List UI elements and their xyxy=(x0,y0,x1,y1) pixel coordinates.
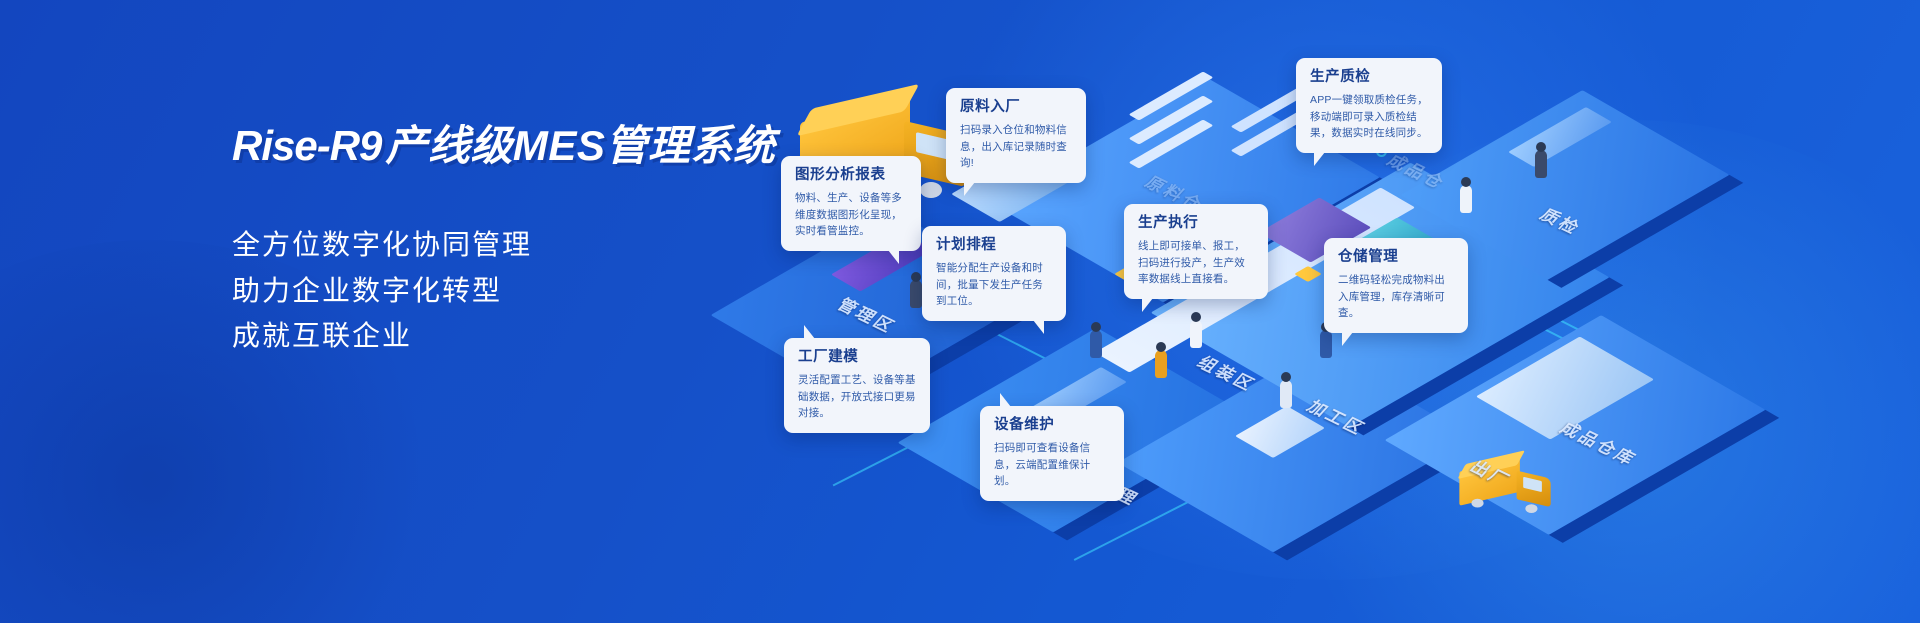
worker-figure xyxy=(1320,330,1332,358)
card-pointer-tail xyxy=(1314,152,1325,166)
card-description: 扫码即可查看设备信息，云端配置维保计划。 xyxy=(994,440,1110,489)
card-description: 二维码轻松完成物料出入库管理，库存清晰可查。 xyxy=(1338,272,1454,321)
mes-hero-banner: Rise-R9产线级MES管理系统 全方位数字化协同管理 助力企业数字化转型 成… xyxy=(0,0,1920,623)
subtitle-line-3: 成就互联企业 xyxy=(232,313,792,358)
worker-figure xyxy=(1535,150,1547,178)
card-title: 计划排程 xyxy=(936,237,1052,254)
card-title: 设备维护 xyxy=(994,417,1110,434)
card-title: 生产执行 xyxy=(1138,215,1254,232)
worker-figure xyxy=(1460,185,1472,213)
truck-wheel xyxy=(1525,504,1537,513)
title-product-name: Rise-R9 xyxy=(232,122,381,169)
card-pointer-tail xyxy=(1342,332,1353,346)
card-description: APP一键领取质检任务，移动端即可录入质检结果，数据实时在线同步。 xyxy=(1310,92,1428,141)
worker-figure xyxy=(1090,330,1102,358)
card-pointer-tail xyxy=(1000,393,1011,407)
card-pointer-tail xyxy=(1142,298,1153,312)
worker-figure xyxy=(1280,380,1292,408)
truck-wheel xyxy=(920,182,942,198)
info-card-warehouse-management[interactable]: 仓储管理 二维码轻松完成物料出入库管理，库存清晰可查。 xyxy=(1324,238,1468,333)
card-pointer-tail xyxy=(804,325,815,339)
card-title: 仓储管理 xyxy=(1338,249,1454,266)
hero-copy: Rise-R9产线级MES管理系统 全方位数字化协同管理 助力企业数字化转型 成… xyxy=(232,122,792,358)
hero-subtitle-list: 全方位数字化协同管理 助力企业数字化转型 成就互联企业 xyxy=(232,222,792,358)
subtitle-line-2: 助力企业数字化转型 xyxy=(232,268,792,313)
card-pointer-tail xyxy=(964,182,975,196)
card-title: 工厂建模 xyxy=(798,349,916,366)
info-card-graphic-analysis-report[interactable]: 图形分析报表 物料、生产、设备等多维度数据图形化呈现，实时看管监控。 xyxy=(781,156,921,251)
title-chinese: 产线级MES管理系统 xyxy=(385,122,775,169)
card-pointer-tail xyxy=(1033,320,1044,334)
info-card-factory-modeling[interactable]: 工厂建模 灵活配置工艺、设备等基础数据，开放式接口更易对接。 xyxy=(784,338,930,433)
card-description: 物料、生产、设备等多维度数据图形化呈现，实时看管监控。 xyxy=(795,190,907,239)
info-card-production-execution[interactable]: 生产执行 线上即可接单、报工，扫码进行投产，生产效率数据线上直接看。 xyxy=(1124,204,1268,299)
info-card-raw-material-inbound[interactable]: 原料入厂 扫码录入仓位和物料信息，出入库记录随时查询! xyxy=(946,88,1086,183)
card-title: 原料入厂 xyxy=(960,99,1072,116)
card-description: 智能分配生产设备和时间，批量下发生产任务到工位。 xyxy=(936,260,1052,309)
info-card-planning-scheduling[interactable]: 计划排程 智能分配生产设备和时间，批量下发生产任务到工位。 xyxy=(922,226,1066,321)
worker-figure xyxy=(910,280,922,308)
card-description: 线上即可接单、报工，扫码进行投产，生产效率数据线上直接看。 xyxy=(1138,238,1254,287)
worker-figure xyxy=(1155,350,1167,378)
page-title: Rise-R9产线级MES管理系统 xyxy=(232,122,792,170)
card-pointer-tail xyxy=(888,250,899,264)
subtitle-line-1: 全方位数字化协同管理 xyxy=(232,222,792,267)
card-title: 图形分析报表 xyxy=(795,167,907,184)
card-description: 扫码录入仓位和物料信息，出入库记录随时查询! xyxy=(960,122,1072,171)
card-description: 灵活配置工艺、设备等基础数据，开放式接口更易对接。 xyxy=(798,372,916,421)
card-title: 生产质检 xyxy=(1310,69,1428,86)
info-card-equipment-maintenance[interactable]: 设备维护 扫码即可查看设备信息，云端配置维保计划。 xyxy=(980,406,1124,501)
truck-wheel xyxy=(1471,499,1483,508)
worker-figure xyxy=(1190,320,1202,348)
info-card-production-quality-inspection[interactable]: 生产质检 APP一键领取质检任务，移动端即可录入质检结果，数据实时在线同步。 xyxy=(1296,58,1442,153)
